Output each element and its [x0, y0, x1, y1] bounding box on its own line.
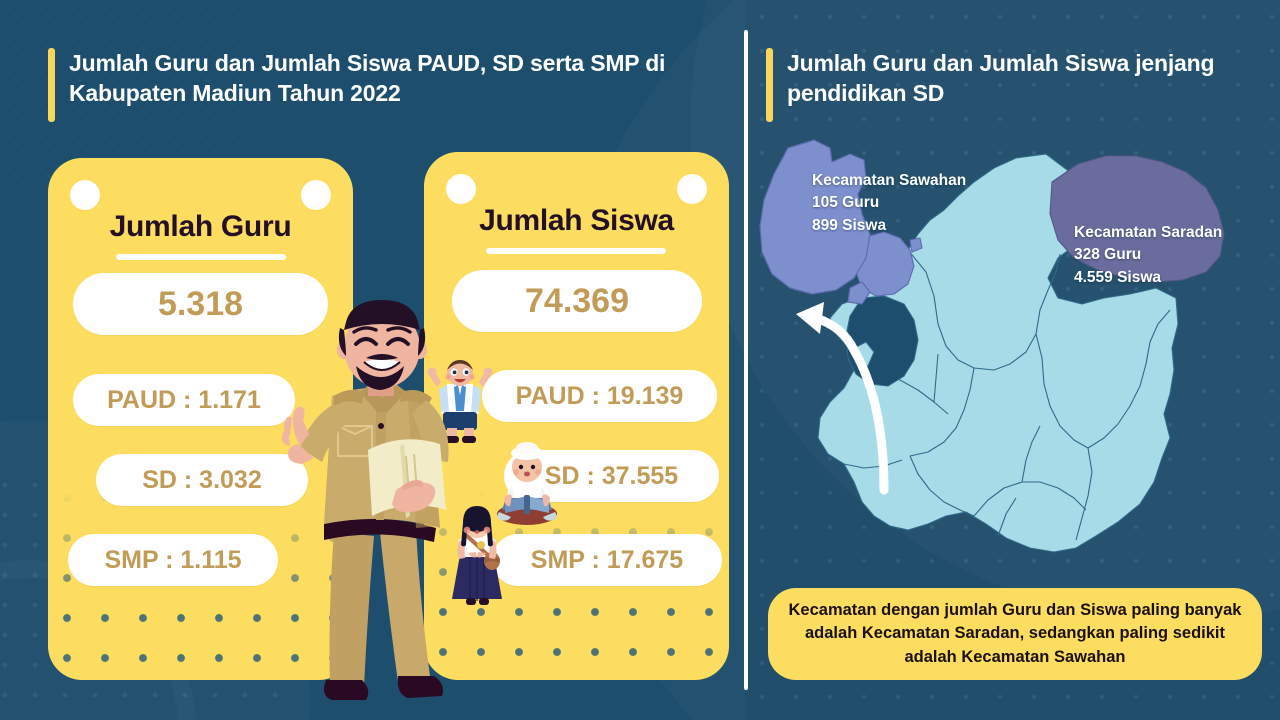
map-label-sawahan: Kecamatan Sawahan 105 Guru 899 Siswa	[812, 170, 966, 237]
infographic-canvas: Jumlah Guru dan Jumlah Siswa PAUD, SD se…	[0, 0, 1280, 720]
left-panel-title: Jumlah Guru dan Jumlah Siswa PAUD, SD se…	[48, 48, 708, 122]
siswa-row-paud: PAUD : 19.139	[482, 370, 717, 422]
siswa-row-smp: SMP : 17.675	[492, 534, 722, 586]
card-guru-underline	[116, 254, 286, 260]
card-siswa-heading: Jumlah Siswa	[424, 204, 729, 238]
map-label-saradan-teachers: 328 Guru	[1074, 244, 1222, 266]
card-hole-left-icon	[70, 180, 100, 210]
right-title-text: Jumlah Guru dan Jumlah Siswa jenjang pen…	[787, 48, 1236, 109]
right-panel-title: Jumlah Guru dan Jumlah Siswa jenjang pen…	[766, 48, 1236, 122]
card-hole-right-icon	[677, 174, 707, 204]
guru-row-paud: PAUD : 1.171	[73, 374, 295, 426]
guru-row-smp: SMP : 1.115	[68, 534, 278, 586]
card-hole-left-icon	[446, 174, 476, 204]
summary-caption: Kecamatan dengan jumlah Guru dan Siswa p…	[768, 588, 1262, 680]
title-accent-bar	[766, 48, 773, 122]
title-accent-bar	[48, 48, 55, 122]
card-siswa-underline	[486, 248, 666, 254]
map-label-sawahan-district: Kecamatan Sawahan	[812, 170, 966, 192]
left-title-text: Jumlah Guru dan Jumlah Siswa PAUD, SD se…	[69, 48, 708, 109]
card-hole-right-icon	[301, 180, 331, 210]
teacher-illustration	[276, 300, 486, 720]
siswa-total-value: 74.369	[452, 270, 702, 332]
map-label-saradan-district: Kecamatan Saradan	[1074, 222, 1222, 244]
map-label-sawahan-teachers: 105 Guru	[812, 192, 966, 214]
map-label-sawahan-students: 899 Siswa	[812, 215, 966, 237]
panel-divider	[744, 30, 748, 690]
card-guru-heading: Jumlah Guru	[48, 210, 353, 244]
map-label-saradan: Kecamatan Saradan 328 Guru 4.559 Siswa	[1074, 222, 1222, 289]
map-label-saradan-students: 4.559 Siswa	[1074, 267, 1222, 289]
